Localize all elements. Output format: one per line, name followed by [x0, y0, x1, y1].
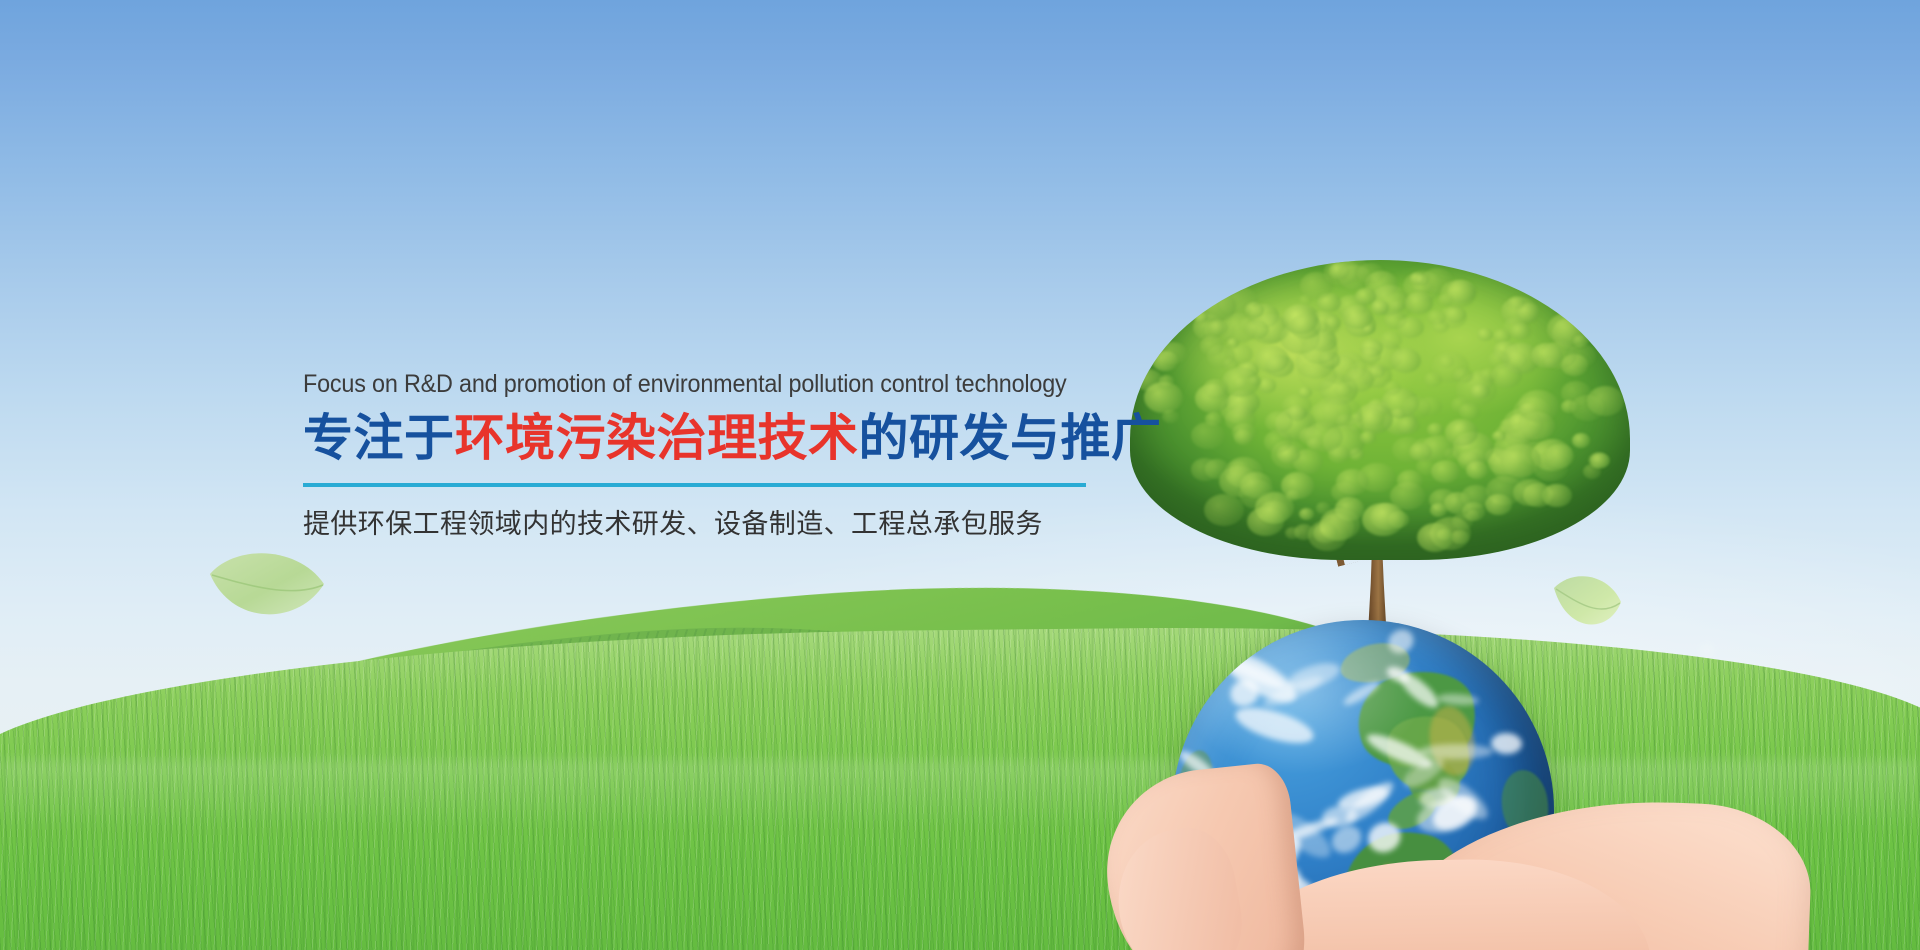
- title-divider: [303, 483, 1086, 487]
- leaf-left-icon: [206, 546, 328, 630]
- page-title: 专注于环境污染治理技术的研发与推广: [303, 409, 1103, 467]
- globe-cloud: [1491, 732, 1523, 755]
- headline-lead: 专注于: [303, 409, 455, 467]
- hero-text-block: Focus on R&D and promotion of environmen…: [303, 368, 1103, 543]
- headline-tail: 的研发与推广: [859, 409, 1162, 467]
- globe-cloud: [1419, 744, 1493, 759]
- subtitle-text: 提供环保工程领域内的技术研发、设备制造、工程总承包服务: [303, 507, 1103, 543]
- leaf-right-icon: [1551, 572, 1627, 644]
- headline-accent: 环境污染治理技术: [455, 409, 859, 467]
- hero-banner: Focus on R&D and promotion of environmen…: [0, 0, 1920, 950]
- eyebrow-tagline: Focus on R&D and promotion of environmen…: [303, 368, 1051, 400]
- bokeh-particle: [1700, 645, 1714, 656]
- globe-cloud: [1232, 701, 1318, 751]
- tree-canopy-texture: [1130, 260, 1630, 560]
